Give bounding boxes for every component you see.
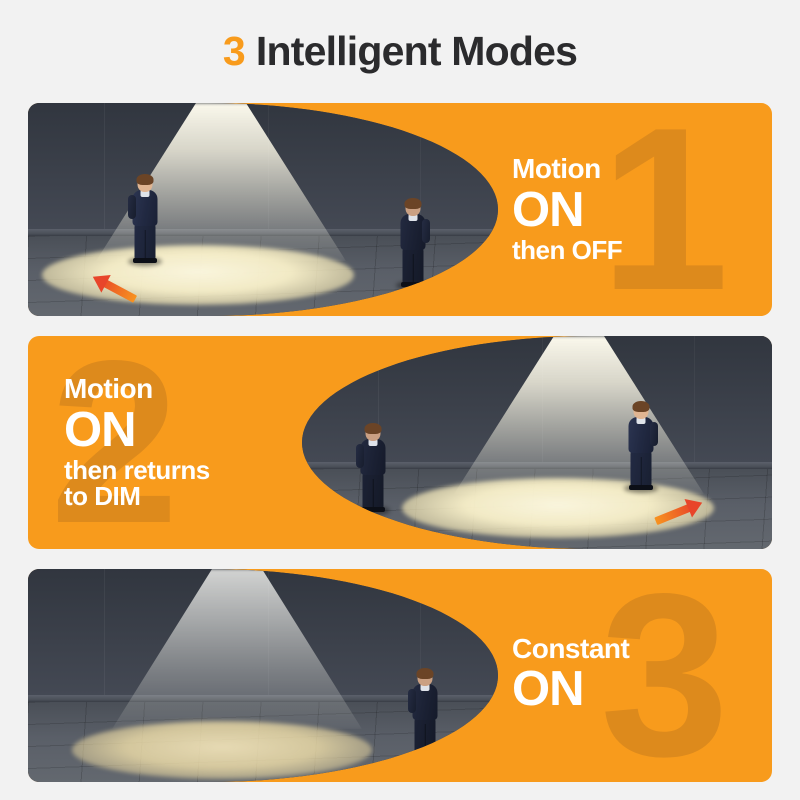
wall	[302, 336, 772, 469]
mode-panel-3[interactable]: 3 Constant ON	[28, 569, 772, 782]
mode-2-line-4: to DIM	[64, 483, 318, 510]
title-count: 3	[223, 31, 245, 72]
scene-1	[28, 103, 498, 316]
wall	[28, 569, 498, 702]
page-title: 3 Intelligent Modes	[0, 0, 800, 103]
ground	[28, 236, 498, 316]
mode-3-line-2: ON	[512, 665, 772, 715]
mode-2-line-3: then returns	[64, 457, 318, 484]
mode-2-copy: 2 Motion ON then returns to DIM	[28, 336, 318, 549]
mode-1-line-3: then OFF	[512, 237, 772, 264]
mode-2-line-2: ON	[64, 406, 318, 456]
mode-2-photo	[302, 336, 772, 549]
mode-1-photo	[28, 103, 498, 316]
scene-3	[28, 569, 498, 782]
mode-3-line-1: Constant	[512, 635, 772, 664]
title-text: Intelligent Modes	[256, 31, 577, 72]
mode-1-copy: 1 Motion ON then OFF	[482, 103, 772, 316]
ground	[28, 702, 498, 782]
wall	[28, 103, 498, 236]
mode-panel-2[interactable]: 2 Motion ON then returns to DIM	[28, 336, 772, 549]
mode-1-line-2: ON	[512, 186, 772, 236]
mode-panel-1[interactable]: 1 Motion ON then OFF	[28, 103, 772, 316]
scene-2	[302, 336, 772, 549]
modes-panel-list: 1 Motion ON then OFF	[0, 103, 800, 782]
mode-1-line-1: Motion	[512, 155, 772, 184]
mode-3-photo	[28, 569, 498, 782]
mode-2-line-1: Motion	[64, 375, 318, 404]
mode-3-copy: 3 Constant ON	[482, 569, 772, 782]
ground	[302, 469, 772, 549]
